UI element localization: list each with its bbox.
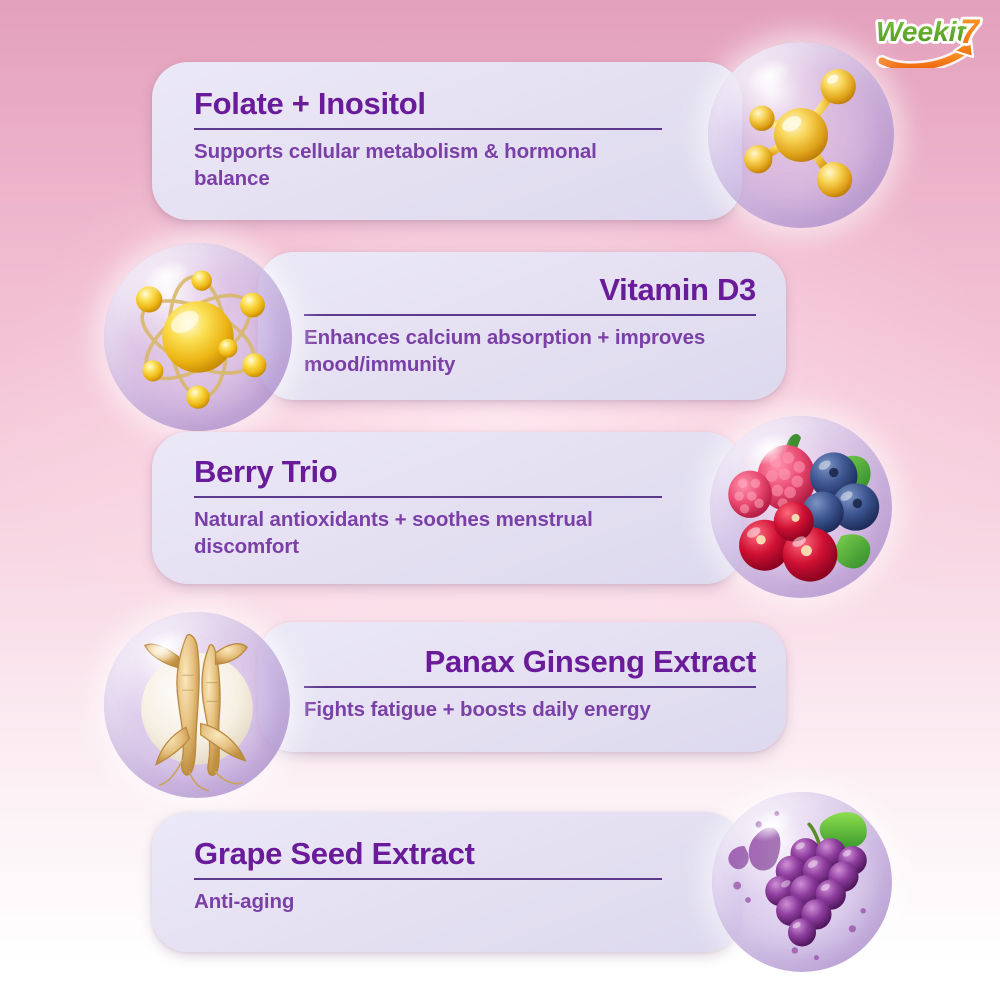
card-divider xyxy=(194,128,662,130)
card-divider xyxy=(194,496,662,498)
mixed-berries-sphere-icon xyxy=(710,416,892,598)
logo-numeral: 7 xyxy=(960,13,981,51)
card-description: Enhances calcium absorption + improves m… xyxy=(304,324,756,379)
card-title: Vitamin D3 xyxy=(304,274,756,307)
molecule-sphere-icon xyxy=(708,42,894,228)
card-description: Natural antioxidants + soothes menstrual… xyxy=(194,506,662,561)
ingredient-card-folate-inositol: Folate + Inositol Supports cellular meta… xyxy=(152,62,742,220)
atom-sphere-icon xyxy=(104,243,292,431)
card-description: Supports cellular metabolism & hormonal … xyxy=(194,138,662,193)
card-title: Grape Seed Extract xyxy=(194,838,662,871)
card-title: Folate + Inositol xyxy=(194,88,662,121)
card-divider xyxy=(194,878,662,880)
ginseng-root-sphere-icon xyxy=(104,612,290,798)
card-divider xyxy=(304,314,756,316)
ingredient-card-vitamin-d3: Vitamin D3 Enhances calcium absorption +… xyxy=(258,252,786,400)
card-description: Anti-aging xyxy=(194,888,662,915)
card-title: Berry Trio xyxy=(194,456,662,489)
card-title: Panax Ginseng Extract xyxy=(304,646,756,679)
card-divider xyxy=(304,686,756,688)
ingredient-card-berry-trio: Berry Trio Natural antioxidants + soothe… xyxy=(152,432,742,584)
card-description: Fights fatigue + boosts daily energy xyxy=(304,696,756,723)
ingredient-card-panax-ginseng: Panax Ginseng Extract Fights fatigue + b… xyxy=(258,622,786,752)
grape-bunch-sphere-icon xyxy=(712,792,892,972)
ingredient-card-grape-seed: Grape Seed Extract Anti-aging xyxy=(152,812,742,952)
